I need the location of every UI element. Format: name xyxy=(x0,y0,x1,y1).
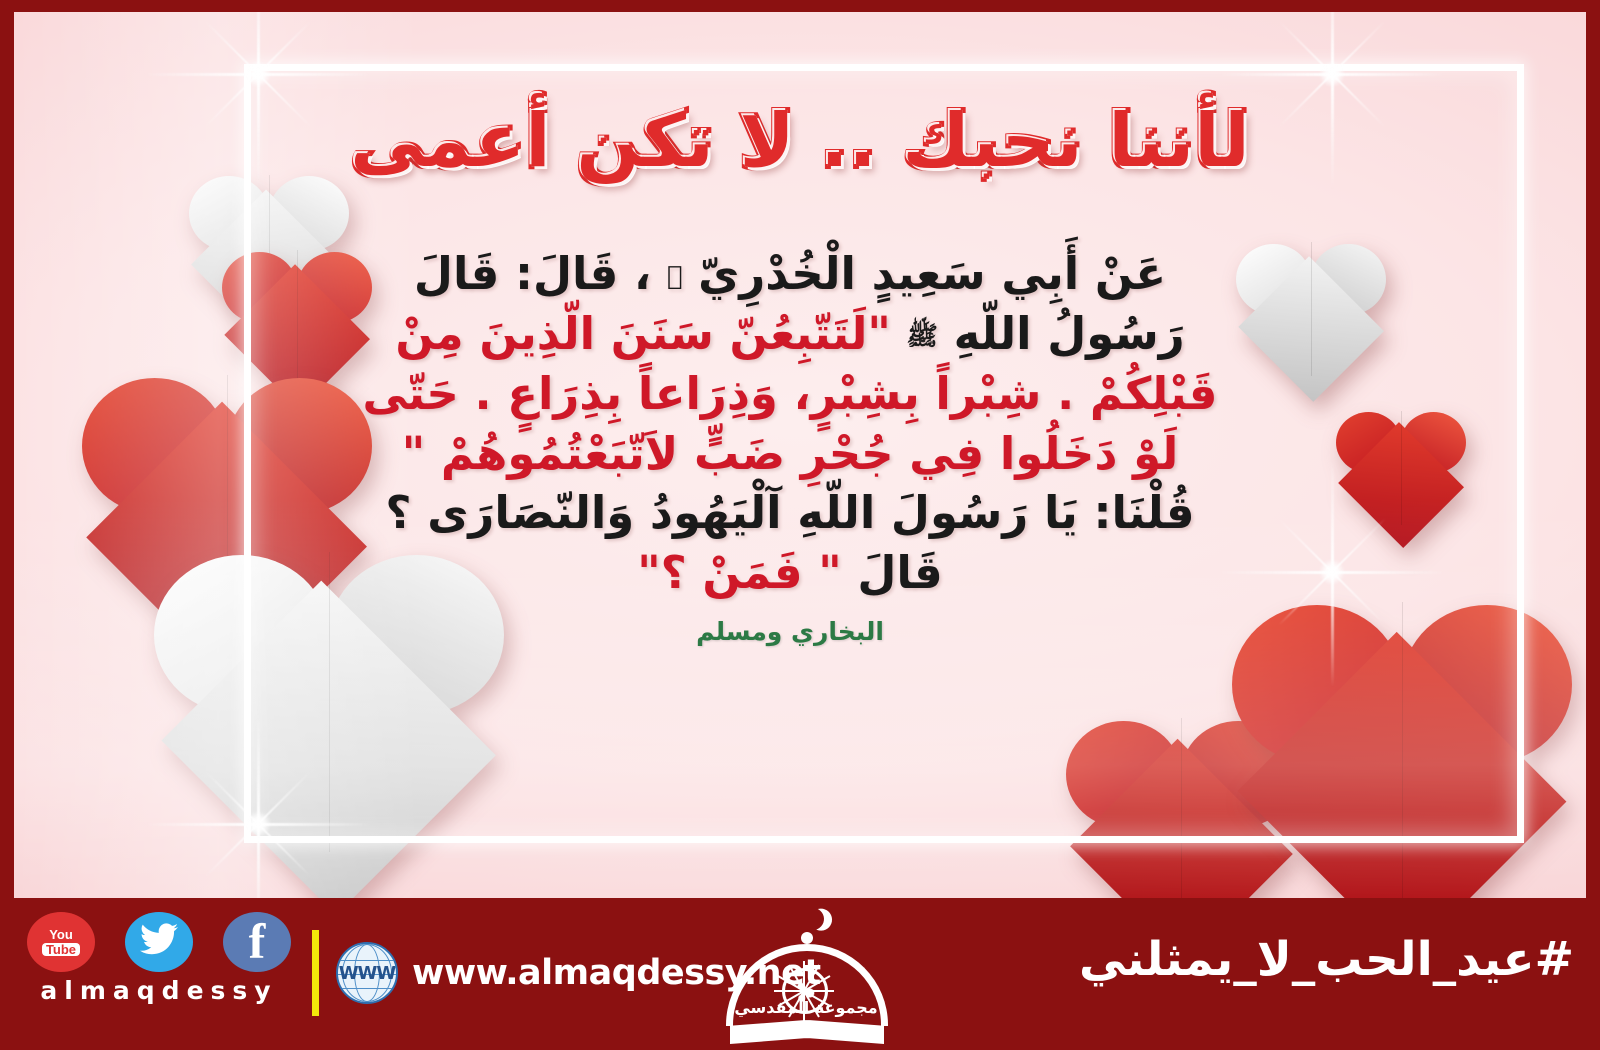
globe-latitude-3 xyxy=(338,988,396,989)
yellow-divider xyxy=(312,930,319,1016)
page-title: لأننا نحبك .. لا تكن أعمى xyxy=(14,98,1586,184)
heart-red-right-small xyxy=(1336,407,1466,529)
crescent-icon xyxy=(798,904,827,933)
hadith-line-5-a: قُلْنَا: يَا رَسُولَ اللّهِ آلْيَهُودُ و… xyxy=(385,486,1194,539)
twitter-bird-glyph xyxy=(140,923,178,962)
social-links-group: f You Tube almaqdessy xyxy=(18,912,300,1005)
globe-latitude-1 xyxy=(338,960,396,961)
youtube-glyph: You Tube xyxy=(42,928,80,956)
hadith-line-1: عَنْ أَبِي سَعِيدٍ الْخُدْرِيّ ﷜ ، قَالَ… xyxy=(314,244,1266,304)
honorific-radiallahuanhu-icon: ﷜ xyxy=(667,262,683,292)
footer-bar: f You Tube almaqdessy xyxy=(0,898,1600,1050)
youtube-label-top: You xyxy=(49,927,73,942)
hadith-line-2-a: رَسُولُ اللّهِ xyxy=(938,307,1185,360)
hadith-line-5: قُلْنَا: يَا رَسُولَ اللّهِ آلْيَهُودُ و… xyxy=(314,483,1266,543)
facebook-glyph: f xyxy=(249,918,266,966)
poster-body: لأننا نحبك .. لا تكن أعمى عَنْ أَبِي سَع… xyxy=(14,12,1586,898)
logo-dot-icon xyxy=(801,932,813,944)
poster-canvas: لأننا نحبك .. لا تكن أعمى عَنْ أَبِي سَع… xyxy=(0,0,1600,1050)
hadith-line-3: قَبْلِكُمْ . شِبْراً بِشِبْرٍ، وَذِرَاعا… xyxy=(314,364,1266,424)
hadith-line-4: لَوْ دَخَلُوا فِي جُحْرِ ضَبٍّ لاَتّبَعْ… xyxy=(314,424,1266,484)
facebook-icon[interactable]: f xyxy=(223,912,291,972)
heart-red-bottomright-front xyxy=(1232,592,1572,898)
page-title-text: لأننا نحبك .. لا تكن أعمى xyxy=(350,98,1250,184)
hadith-line-3-a: قَبْلِكُمْ . شِبْراً بِشِبْرٍ، وَذِرَاعا… xyxy=(362,367,1217,420)
hadith-block: عَنْ أَبِي سَعِيدٍ الْخُدْرِيّ ﷜ ، قَالَ… xyxy=(314,244,1266,648)
organization-logo: مجموعة المقدسي xyxy=(706,906,906,1046)
twitter-icon[interactable] xyxy=(125,912,193,972)
youtube-label-bottom: Tube xyxy=(42,943,80,956)
hadith-line-1-b: ، قَالَ: قَالَ xyxy=(414,247,667,300)
hadith-line-6-a: قَالَ xyxy=(842,546,943,599)
www-globe-icon: WWW xyxy=(336,942,398,1004)
organization-name: مجموعة المقدسي xyxy=(706,998,906,1017)
hadith-line-4-a: لَوْ دَخَلُوا فِي جُحْرِ ضَبٍّ لاَتّبَعْ… xyxy=(402,427,1178,480)
hadith-line-1-a: عَنْ أَبِي سَعِيدٍ الْخُدْرِيّ xyxy=(682,247,1166,300)
hadith-source: البخاري ومسلم xyxy=(314,615,1266,648)
social-icons-row: f You Tube xyxy=(27,912,291,972)
hadith-line-2-b: "لَتَتّبِعُنّ سَنَنَ الّذِينَ مِنْ xyxy=(395,307,906,360)
social-handle: almaqdessy xyxy=(40,976,277,1005)
campaign-hashtag: #عيد_الحب_لا_يمثلني xyxy=(1079,932,1574,987)
hadith-line-6: قَالَ " فَمَنْ ؟" xyxy=(314,543,1266,603)
hadith-line-6-b: " فَمَنْ ؟" xyxy=(637,546,841,599)
youtube-icon[interactable]: You Tube xyxy=(27,912,95,972)
honorific-sallallahu-icon: ﷺ xyxy=(907,322,938,352)
hadith-line-2: رَسُولُ اللّهِ ﷺ "لَتَتّبِعُنّ سَنَنَ ال… xyxy=(314,304,1266,364)
globe-www-label: WWW xyxy=(339,963,396,984)
